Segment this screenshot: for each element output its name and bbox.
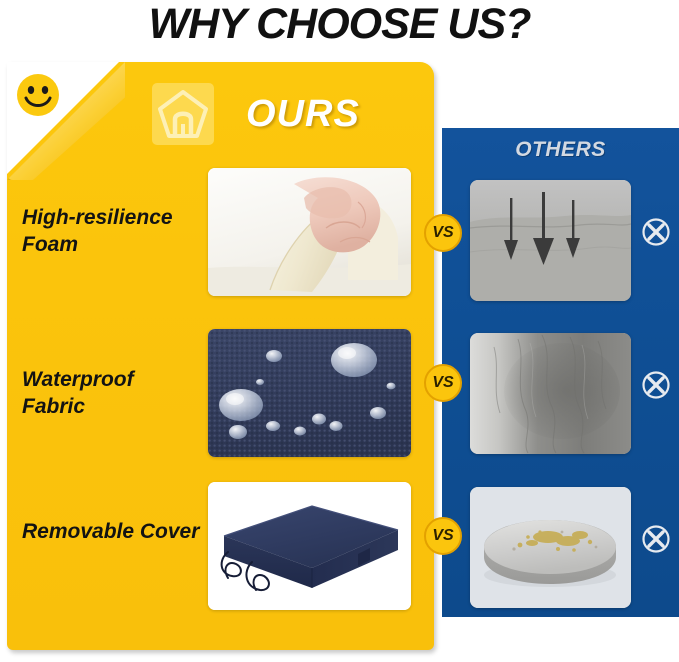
circle-x-glyph xyxy=(641,370,671,400)
house-pentagon-glyph xyxy=(152,83,214,145)
water-beads-on-navy-fabric-icon xyxy=(208,329,411,457)
others-image-cushion xyxy=(470,487,631,608)
feature-label-high-resilience-foam: High-resilience Foam xyxy=(22,204,202,258)
circle-x-glyph xyxy=(641,524,671,554)
feature-label-removable-cover: Removable Cover xyxy=(22,518,202,545)
hand-pinching-foam-icon xyxy=(208,168,411,296)
circle-x-icon xyxy=(641,217,671,247)
gray-foam-down-arrows-icon xyxy=(470,180,631,301)
circle-x-glyph xyxy=(641,217,671,247)
ours-image-foam xyxy=(208,168,411,296)
vs-badge: VS xyxy=(424,364,462,402)
vs-badge: VS xyxy=(424,214,462,252)
stained-round-cushion-icon xyxy=(470,487,631,608)
navy-square-cushion-icon xyxy=(208,482,411,610)
vs-badge: VS xyxy=(424,517,462,555)
circle-x-icon xyxy=(641,524,671,554)
others-image-foam xyxy=(470,180,631,301)
others-heading: OTHERS xyxy=(442,138,679,162)
ours-image-cushion xyxy=(208,482,411,610)
house-pentagon-icon xyxy=(152,83,214,145)
others-image-fabric xyxy=(470,333,631,454)
ours-heading: OURS xyxy=(246,93,360,136)
smiley-face-glyph xyxy=(16,73,60,117)
page-title: WHY CHOOSE US? xyxy=(0,0,679,48)
wet-stained-fabric-icon xyxy=(470,333,631,454)
circle-x-icon xyxy=(641,370,671,400)
feature-label-waterproof-fabric: Waterproof Fabric xyxy=(22,366,202,420)
ours-image-fabric xyxy=(208,329,411,457)
smiley-face-icon xyxy=(16,73,60,117)
